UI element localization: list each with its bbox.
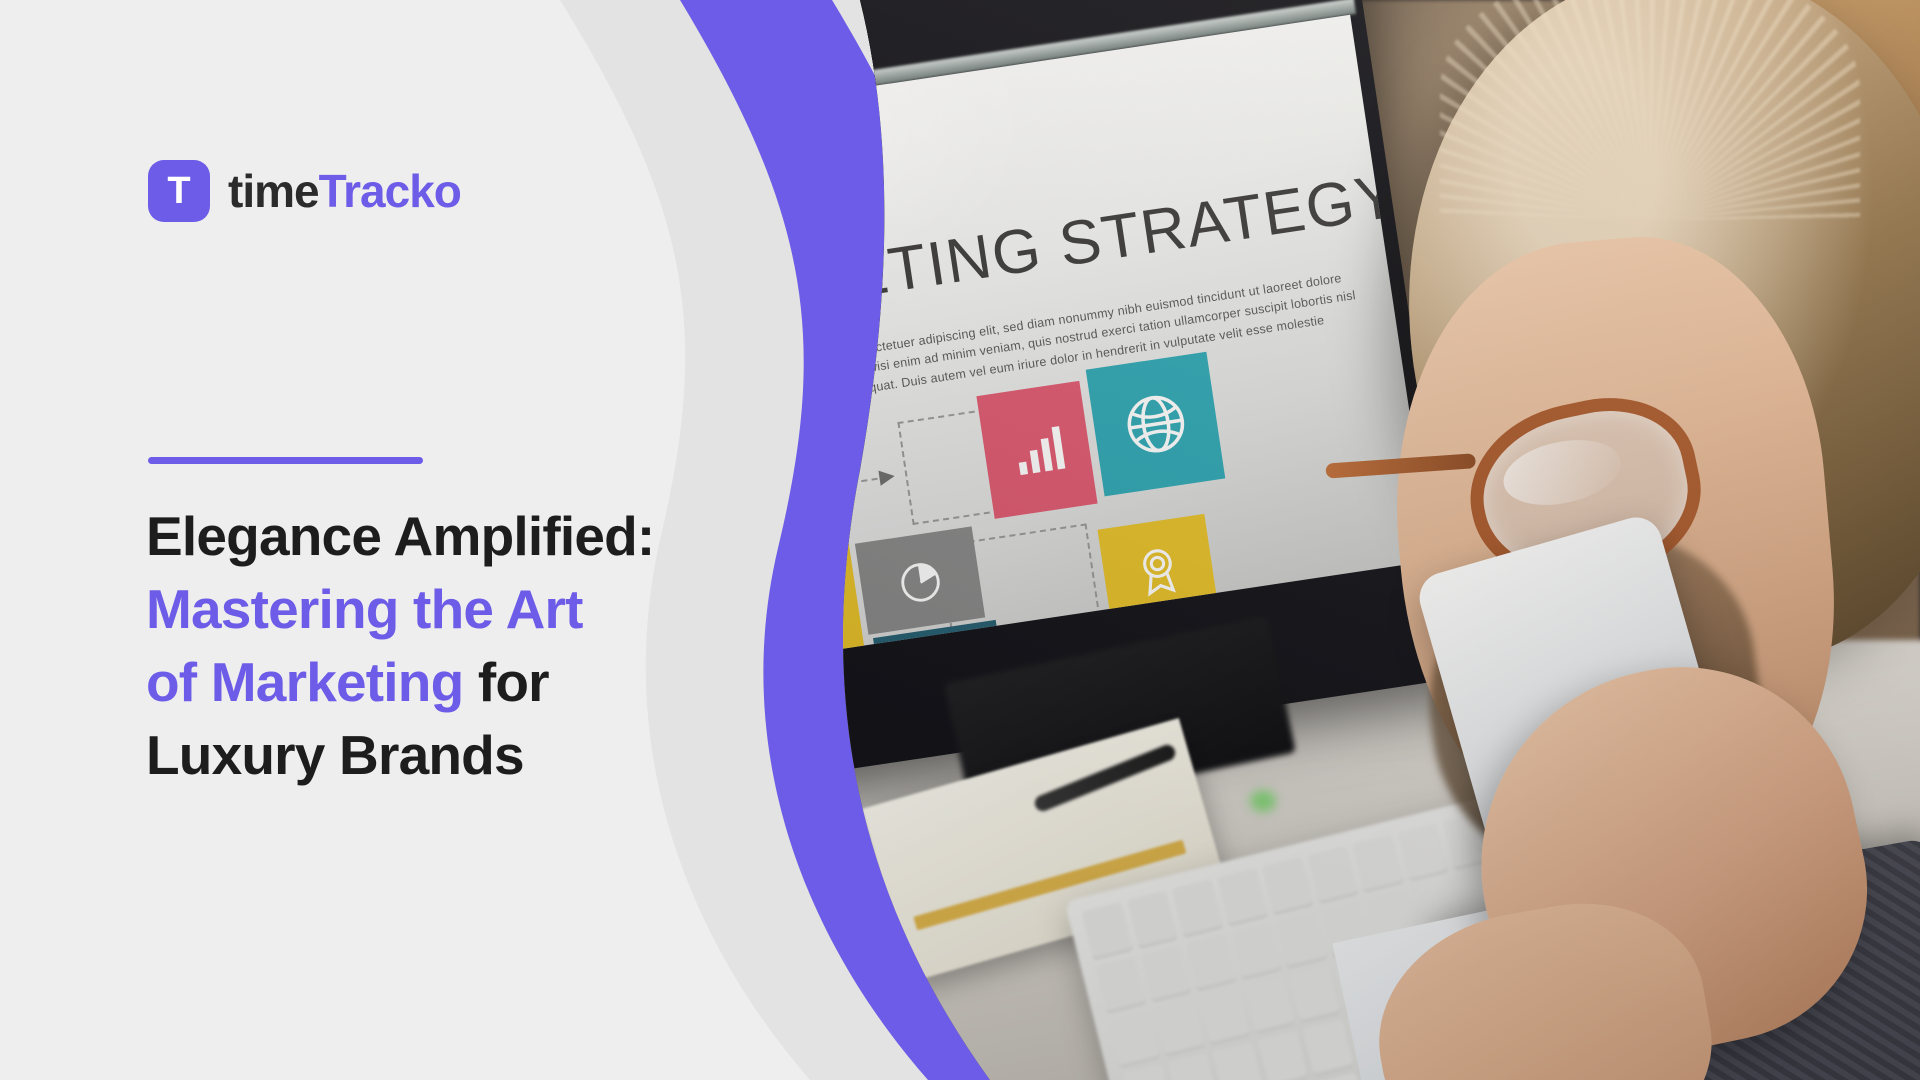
headline-line-3-rest: for [463,651,548,713]
pie-chart-tile [855,526,985,634]
person-hair-wisps [1440,0,1860,220]
headline-line-1: Elegance Amplified: [146,500,746,573]
hero-image-region: MARKETING STRATEGY Lorem ipsum dolor sit… [560,0,1920,1080]
arrow-right-icon: ▶ [878,465,896,487]
left-content-panel: T timeTracko Elegance Amplified: Masteri… [0,0,760,1080]
logo-mark-icon: T [148,160,210,222]
brand-logo[interactable]: T timeTracko [148,160,461,222]
headline-line-3-accent: of Marketing [146,651,463,713]
brand-name-part2: Tracko [319,165,461,217]
logo-mark-letter: T [167,172,190,210]
banner-canvas: MARKETING STRATEGY Lorem ipsum dolor sit… [0,0,1920,1080]
brand-name-part1: time [228,165,319,217]
headline-line-4: Luxury Brands [146,719,746,792]
pie-chart-icon [882,549,958,612]
award-icon [1123,538,1193,603]
page-title: Elegance Amplified: Mastering the Art of… [146,500,746,793]
green-indicator-light [1250,790,1276,812]
globe-tile [1086,352,1226,497]
globe-icon [1115,382,1196,466]
bar-chart-tile [976,381,1097,519]
headline-line-2: Mastering the Art [146,573,746,646]
brand-wordmark: timeTracko [228,164,461,218]
bar-chart-icon [1002,410,1072,490]
person-at-desk [1330,0,1920,1080]
accent-divider [148,457,423,464]
glasses-temple [1325,453,1476,478]
